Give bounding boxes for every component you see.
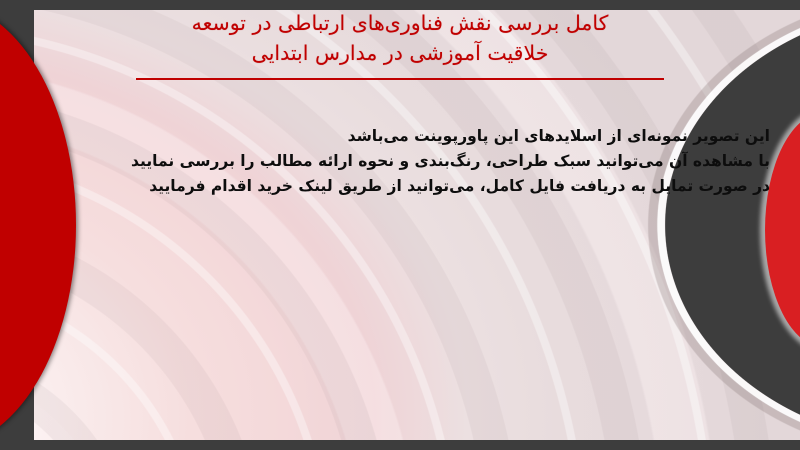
presentation-slide: کامل بررسی نقش فناوری‌های ارتباطی در توس…	[0, 0, 800, 450]
background-arc-pattern	[34, 10, 800, 440]
title-underline-rule	[136, 78, 664, 80]
body-line-1: این تصویر نمونه‌ای از اسلایدهای این پاور…	[150, 124, 770, 149]
slide-title-line-2: خلاقیت آموزشی در مدارس ابتدایی	[120, 38, 680, 68]
canvas-edge-highlight	[34, 10, 800, 440]
slide-body-text: این تصویر نمونه‌ای از اسلایدهای این پاور…	[150, 124, 770, 199]
slide-title: کامل بررسی نقش فناوری‌های ارتباطی در توس…	[120, 8, 680, 68]
slide-frame-bottom	[0, 440, 800, 450]
slide-title-line-1: کامل بررسی نقش فناوری‌های ارتباطی در توس…	[120, 8, 680, 38]
body-line-3: در صورت تمایل به دریافت فایل کامل، می‌تو…	[150, 174, 770, 199]
slide-canvas	[34, 10, 800, 440]
body-line-2: با مشاهده آن می‌توانید سبک طراحی، رنگ‌بن…	[150, 149, 770, 174]
canvas-edge-shadow	[34, 10, 800, 440]
